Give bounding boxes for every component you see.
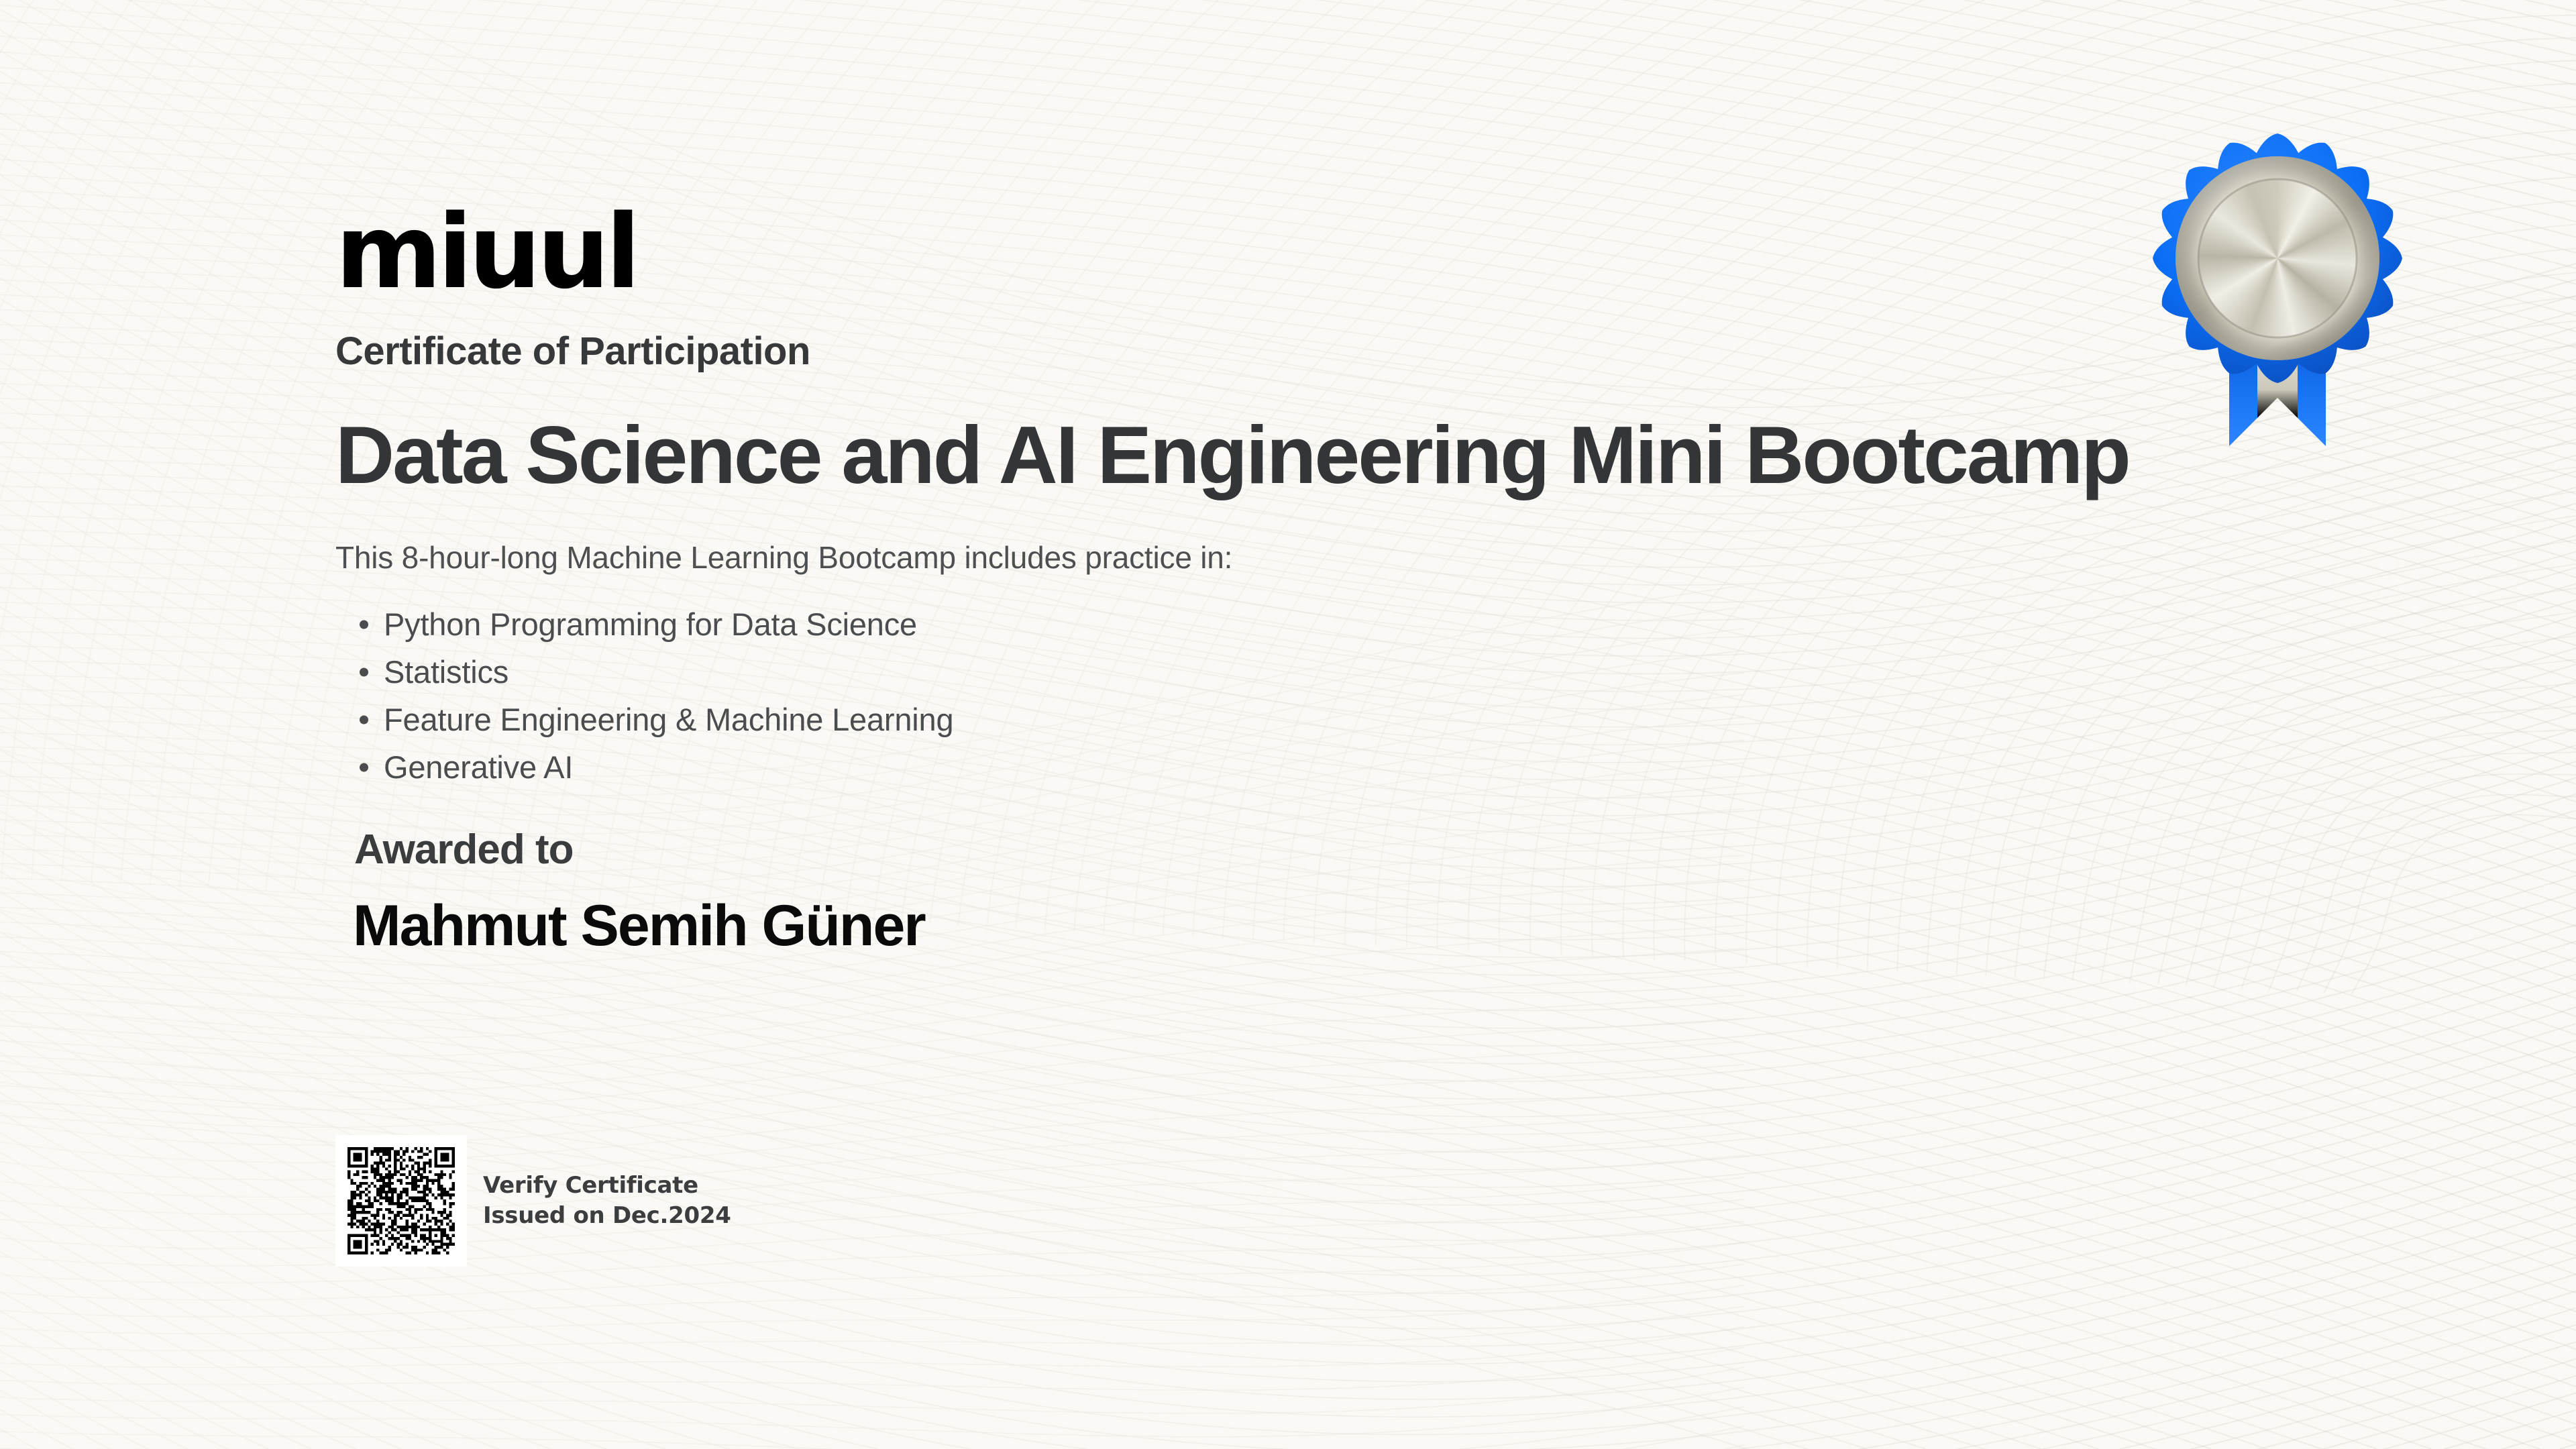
list-item: Python Programming for Data Science [335,608,2247,640]
list-item-label: Statistics [384,654,508,690]
verify-line-1: Verify Certificate [483,1171,731,1201]
bullet-icon [360,763,368,771]
certificate-kicker: Certificate of Participation [335,330,2247,373]
list-item: Statistics [335,656,2247,688]
certificate-content: miuul Certificate of Participation Data … [335,201,2247,957]
awarded-to-label: Awarded to [354,827,2247,873]
bullet-icon [360,715,368,724]
list-item: Generative AI [335,751,2247,783]
list-item-label: Generative AI [384,749,573,785]
recipient-name: Mahmut Semih Güner [353,896,2247,956]
list-item: Feature Engineering & Machine Learning [335,704,2247,735]
miuul-logo: miuul [335,201,2247,303]
verify-text-block: Verify Certificate Issued on Dec.2024 [483,1171,731,1231]
certificate-page: miuul Certificate of Participation Data … [0,0,2576,1449]
qr-code[interactable] [335,1135,467,1267]
bullet-icon [360,667,368,676]
certificate-intro-text: This 8-hour-long Machine Learning Bootca… [335,539,2247,576]
award-medal-badge [2150,131,2405,493]
bullet-icon [360,620,368,629]
medal-inner-disc [2198,179,2357,337]
list-item-label: Python Programming for Data Science [384,606,917,642]
list-item-label: Feature Engineering & Machine Learning [384,702,953,737]
topics-list: Python Programming for Data Science Stat… [335,608,2247,783]
verify-certificate-block[interactable]: Verify Certificate Issued on Dec.2024 [335,1135,731,1267]
qr-code-image [347,1147,455,1254]
verify-line-2: Issued on Dec.2024 [483,1201,731,1231]
certificate-title: Data Science and AI Engineering Mini Boo… [335,412,2247,498]
